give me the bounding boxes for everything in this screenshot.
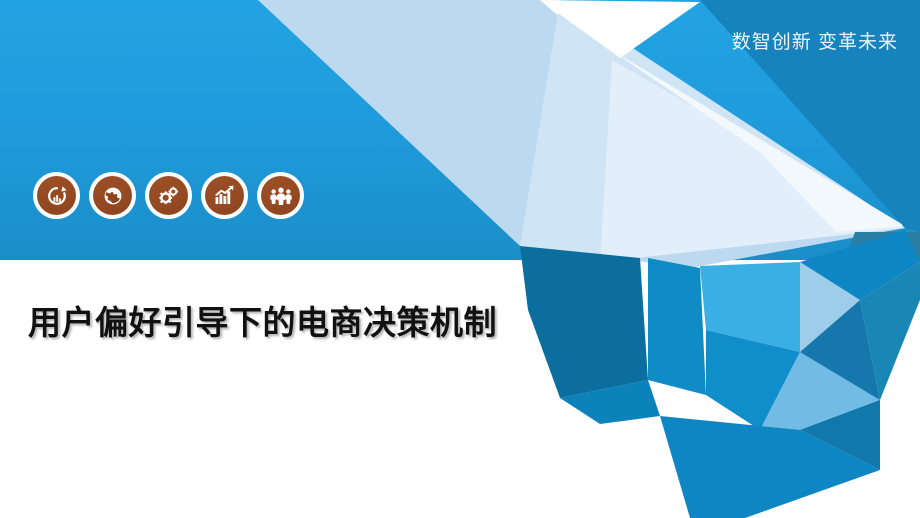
people-group-icon [261,176,300,215]
poly-mid-left [648,258,706,395]
slide-tagline: 数智创新 变革未来 [732,27,898,54]
gears-icon [149,176,188,215]
globe-icon [93,176,132,215]
refresh-chart-icon [37,176,76,215]
icon-strip [33,172,304,219]
bar-chart-growth-icon [205,176,244,215]
polygon-background-artwork [0,0,920,518]
icon-badge-gears[interactable] [145,172,192,219]
icon-badge-people-group[interactable] [257,172,304,219]
presentation-slide: 数智创新 变革未来 [0,0,920,518]
slide-title: 用户偏好引导下的电商决策机制 [28,296,528,349]
icon-badge-refresh-chart[interactable] [33,172,80,219]
poly-deep-left [520,246,648,398]
icon-badge-globe[interactable] [89,172,136,219]
icon-badge-bar-chart-growth[interactable] [201,172,248,219]
